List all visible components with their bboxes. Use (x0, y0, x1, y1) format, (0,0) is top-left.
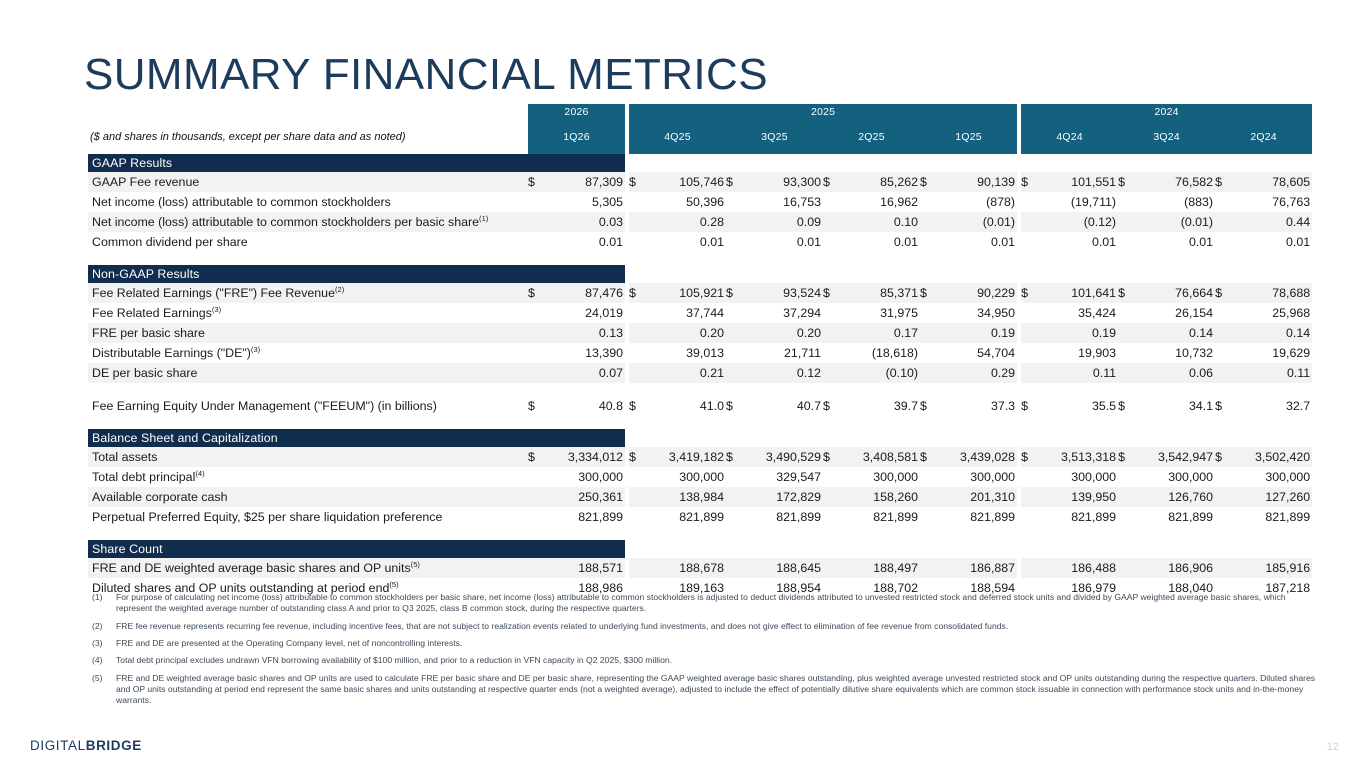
value-cell: 0.07 (544, 363, 625, 383)
currency-symbol: $ (1118, 396, 1134, 416)
column-header-2q24: 2Q24 (1215, 120, 1312, 154)
currency-symbol: $ (920, 447, 936, 467)
currency-symbol (920, 192, 936, 212)
currency-symbol (1215, 232, 1231, 252)
section-header-filler (625, 540, 1312, 558)
value-cell: 37,294 (742, 303, 823, 323)
logo-text-bold: BRIDGE (86, 738, 142, 753)
value-cell: 188,571 (544, 558, 625, 578)
row-label: GAAP Fee revenue (88, 172, 528, 192)
value-cell: 821,899 (936, 507, 1017, 527)
currency-symbol (1021, 192, 1037, 212)
value-cell: 0.03 (544, 212, 625, 232)
currency-symbol: $ (920, 172, 936, 192)
value-cell: 16,962 (839, 192, 920, 212)
value-cell: 0.09 (742, 212, 823, 232)
row-label: Distributable Earnings ("DE")(3) (88, 343, 528, 363)
currency-symbol (1021, 323, 1037, 343)
currency-symbol (528, 363, 544, 383)
value-cell: 3,408,581 (839, 447, 920, 467)
value-cell: (19,711) (1037, 192, 1118, 212)
currency-symbol (629, 558, 645, 578)
currency-symbol (920, 487, 936, 507)
digitalbridge-logo: DIGITALBRIDGE (30, 738, 142, 753)
value-cell: 19,629 (1231, 343, 1312, 363)
currency-symbol: $ (528, 283, 544, 303)
currency-symbol: $ (629, 172, 645, 192)
currency-symbol (823, 212, 839, 232)
currency-symbol: $ (1118, 283, 1134, 303)
value-cell: 3,490,529 (742, 447, 823, 467)
currency-symbol (823, 232, 839, 252)
currency-symbol (1118, 192, 1134, 212)
value-cell: 821,899 (1037, 507, 1118, 527)
currency-symbol (1021, 343, 1037, 363)
currency-symbol (726, 343, 742, 363)
footnote-ref: (3) (251, 345, 260, 354)
currency-symbol (726, 363, 742, 383)
currency-symbol (726, 507, 742, 527)
value-cell: 105,746 (645, 172, 726, 192)
footnote-marker: (5) (92, 673, 116, 707)
value-cell: 41.0 (645, 396, 726, 416)
currency-symbol: $ (528, 396, 544, 416)
column-header-1q26: 1Q26 (528, 120, 625, 154)
value-cell: 26,154 (1134, 303, 1215, 323)
section-header-filler (625, 429, 1312, 447)
value-cell: 50,396 (645, 192, 726, 212)
value-cell: 5,305 (544, 192, 625, 212)
value-cell: (0.01) (936, 212, 1017, 232)
currency-symbol: $ (726, 283, 742, 303)
value-cell: 821,899 (1231, 507, 1312, 527)
header-quarter-row: ($ and shares in thousands, except per s… (88, 120, 1312, 154)
footnote-text: For purpose of calculating net income (l… (116, 592, 1322, 615)
currency-symbol (1118, 212, 1134, 232)
footnote-text: FRE and DE are presented at the Operatin… (116, 638, 1322, 649)
currency-symbol (726, 487, 742, 507)
value-cell: 821,899 (742, 507, 823, 527)
value-cell: 0.29 (936, 363, 1017, 383)
value-cell: 0.21 (645, 363, 726, 383)
currency-symbol (1118, 487, 1134, 507)
value-cell: 24,019 (544, 303, 625, 323)
value-cell: 101,641 (1037, 283, 1118, 303)
footnote-item: (3)FRE and DE are presented at the Opera… (92, 638, 1322, 649)
value-cell: 201,310 (936, 487, 1017, 507)
currency-symbol: $ (726, 447, 742, 467)
value-cell: 300,000 (645, 467, 726, 487)
value-cell: 35.5 (1037, 396, 1118, 416)
value-cell: 0.01 (645, 232, 726, 252)
currency-symbol (920, 303, 936, 323)
section-header-row: Share Count (88, 540, 1312, 558)
value-cell: 0.14 (1231, 323, 1312, 343)
value-cell: 186,906 (1134, 558, 1215, 578)
row-label: Fee Related Earnings ("FRE") Fee Revenue… (88, 283, 528, 303)
table-row: Net income (loss) attributable to common… (88, 212, 1312, 232)
currency-symbol (528, 343, 544, 363)
footnote-item: (4)Total debt principal excludes undrawn… (92, 655, 1322, 666)
financial-metrics-table: 2026 2025 2024 ($ and shares in thousand… (88, 104, 1312, 598)
value-cell: 3,439,028 (936, 447, 1017, 467)
value-cell: 821,899 (645, 507, 726, 527)
section-header-row: Non-GAAP Results (88, 265, 1312, 283)
currency-symbol (528, 467, 544, 487)
value-cell: 0.01 (742, 232, 823, 252)
currency-symbol: $ (1021, 172, 1037, 192)
currency-symbol (629, 232, 645, 252)
currency-symbol (629, 467, 645, 487)
value-cell: 300,000 (936, 467, 1017, 487)
value-cell: 0.28 (645, 212, 726, 232)
row-label: Net income (loss) attributable to common… (88, 192, 528, 212)
value-cell: 188,645 (742, 558, 823, 578)
value-cell: 158,260 (839, 487, 920, 507)
table-row: Net income (loss) attributable to common… (88, 192, 1312, 212)
column-header-4q25: 4Q25 (629, 120, 726, 154)
footnote-marker: (3) (92, 638, 116, 649)
currency-symbol: $ (629, 283, 645, 303)
financial-metrics-table-wrapper: 2026 2025 2024 ($ and shares in thousand… (88, 104, 1306, 598)
value-cell: 85,371 (839, 283, 920, 303)
table-row: Available corporate cash250,361138,98417… (88, 487, 1312, 507)
table-row: FRE per basic share0.130.200.200.170.190… (88, 323, 1312, 343)
footnote-text: FRE fee revenue represents recurring fee… (116, 621, 1322, 632)
currency-symbol (823, 323, 839, 343)
section-header-filler (625, 154, 1312, 172)
currency-symbol (823, 192, 839, 212)
value-cell: 0.01 (1134, 232, 1215, 252)
value-cell: 3,419,182 (645, 447, 726, 467)
value-cell: 821,899 (839, 507, 920, 527)
footnote-ref: (3) (212, 305, 221, 314)
row-label: Fee Related Earnings(3) (88, 303, 528, 323)
table-row: Total debt principal(4)300,000300,000329… (88, 467, 1312, 487)
section-title: Share Count (88, 540, 625, 558)
value-cell: 101,551 (1037, 172, 1118, 192)
currency-symbol (528, 232, 544, 252)
currency-symbol: $ (1118, 172, 1134, 192)
currency-symbol (1215, 303, 1231, 323)
value-cell: 138,984 (645, 487, 726, 507)
row-label: Total assets (88, 447, 528, 467)
currency-symbol (1118, 303, 1134, 323)
table-row: Distributable Earnings ("DE")(3)13,39039… (88, 343, 1312, 363)
footnote-item: (2)FRE fee revenue represents recurring … (92, 621, 1322, 632)
currency-symbol (823, 343, 839, 363)
currency-symbol: $ (1118, 447, 1134, 467)
row-label: Net income (loss) attributable to common… (88, 212, 528, 232)
value-cell: 78,605 (1231, 172, 1312, 192)
row-label: Available corporate cash (88, 487, 528, 507)
value-cell: 172,829 (742, 487, 823, 507)
currency-symbol (528, 212, 544, 232)
currency-symbol (1021, 507, 1037, 527)
value-cell: 34.1 (1134, 396, 1215, 416)
table-row: GAAP Fee revenue$87,309$105,746$93,300$8… (88, 172, 1312, 192)
year-group-2024: 2024 (1021, 104, 1312, 120)
currency-symbol (629, 343, 645, 363)
value-cell: 0.17 (839, 323, 920, 343)
currency-symbol (1021, 212, 1037, 232)
currency-symbol (823, 487, 839, 507)
value-cell: 300,000 (1134, 467, 1215, 487)
table-row: Total assets$3,334,012$3,419,182$3,490,5… (88, 447, 1312, 467)
currency-symbol: $ (823, 283, 839, 303)
currency-symbol (629, 212, 645, 232)
currency-symbol (920, 507, 936, 527)
value-cell: 85,262 (839, 172, 920, 192)
footnote-marker: (4) (92, 655, 116, 666)
row-label: FRE per basic share (88, 323, 528, 343)
value-cell: 821,899 (1134, 507, 1215, 527)
page-title: SUMMARY FINANCIAL METRICS (84, 53, 768, 97)
value-cell: 40.7 (742, 396, 823, 416)
footnote-ref: (1) (479, 214, 488, 223)
currency-symbol: $ (629, 447, 645, 467)
value-cell: 0.12 (742, 363, 823, 383)
value-cell: 127,260 (1231, 487, 1312, 507)
value-cell: 39,013 (645, 343, 726, 363)
value-cell: 19,903 (1037, 343, 1118, 363)
spacer-row (88, 383, 1312, 396)
currency-symbol (1118, 507, 1134, 527)
currency-symbol: $ (1021, 447, 1037, 467)
column-header-4q24: 4Q24 (1021, 120, 1118, 154)
value-cell: 32.7 (1231, 396, 1312, 416)
value-cell: (0.01) (1134, 212, 1215, 232)
currency-symbol (1118, 323, 1134, 343)
currency-symbol: $ (1215, 172, 1231, 192)
value-cell: 40.8 (544, 396, 625, 416)
section-header-row: Balance Sheet and Capitalization (88, 429, 1312, 447)
currency-symbol (629, 507, 645, 527)
value-cell: 821,899 (544, 507, 625, 527)
column-header-3q24: 3Q24 (1118, 120, 1215, 154)
value-cell: 93,300 (742, 172, 823, 192)
spacer-row (88, 416, 1312, 429)
currency-symbol (1118, 343, 1134, 363)
table-row: Common dividend per share0.010.010.010.0… (88, 232, 1312, 252)
year-group-2026: 2026 (528, 104, 625, 120)
currency-symbol (629, 192, 645, 212)
logo-text-light: DIGITAL (30, 738, 86, 753)
value-cell: 31,975 (839, 303, 920, 323)
slide-summary-financial-metrics: SUMMARY FINANCIAL METRICS 2026 (0, 0, 1365, 768)
currency-symbol (920, 232, 936, 252)
currency-symbol (1118, 363, 1134, 383)
value-cell: 186,488 (1037, 558, 1118, 578)
table-subtitle: ($ and shares in thousands, except per s… (88, 120, 528, 154)
currency-symbol (528, 192, 544, 212)
value-cell: 0.10 (839, 212, 920, 232)
value-cell: 34,950 (936, 303, 1017, 323)
value-cell: 78,688 (1231, 283, 1312, 303)
currency-symbol (528, 558, 544, 578)
section-title: Non-GAAP Results (88, 265, 625, 283)
currency-symbol (1215, 363, 1231, 383)
value-cell: 3,542,947 (1134, 447, 1215, 467)
currency-symbol: $ (1021, 283, 1037, 303)
row-label: FRE and DE weighted average basic shares… (88, 558, 528, 578)
currency-symbol (726, 323, 742, 343)
footnote-ref: (4) (195, 469, 204, 478)
value-cell: 3,502,420 (1231, 447, 1312, 467)
currency-symbol: $ (1215, 283, 1231, 303)
currency-symbol (823, 303, 839, 323)
value-cell: 126,760 (1134, 487, 1215, 507)
value-cell: 37,744 (645, 303, 726, 323)
value-cell: 0.01 (839, 232, 920, 252)
value-cell: 0.14 (1134, 323, 1215, 343)
value-cell: 21,711 (742, 343, 823, 363)
value-cell: 0.44 (1231, 212, 1312, 232)
currency-symbol: $ (629, 396, 645, 416)
currency-symbol (726, 467, 742, 487)
value-cell: 10,732 (1134, 343, 1215, 363)
value-cell: (883) (1134, 192, 1215, 212)
table-row: Fee Earning Equity Under Management ("FE… (88, 396, 1312, 416)
value-cell: 25,968 (1231, 303, 1312, 323)
currency-symbol: $ (823, 172, 839, 192)
value-cell: (0.12) (1037, 212, 1118, 232)
currency-symbol (823, 507, 839, 527)
section-title: GAAP Results (88, 154, 625, 172)
spacer-cell (88, 383, 1312, 396)
currency-symbol: $ (920, 283, 936, 303)
table-row: Fee Related Earnings(3)24,01937,74437,29… (88, 303, 1312, 323)
currency-symbol (823, 363, 839, 383)
row-label: Total debt principal(4) (88, 467, 528, 487)
value-cell: 186,887 (936, 558, 1017, 578)
value-cell: 87,476 (544, 283, 625, 303)
currency-symbol (1118, 232, 1134, 252)
value-cell: 188,678 (645, 558, 726, 578)
currency-symbol: $ (1215, 396, 1231, 416)
footnote-marker: (2) (92, 621, 116, 632)
value-cell: 0.01 (936, 232, 1017, 252)
currency-symbol (823, 467, 839, 487)
footnote-ref: (5) (411, 560, 420, 569)
value-cell: 76,763 (1231, 192, 1312, 212)
spacer-cell (88, 416, 1312, 429)
value-cell: 39.7 (839, 396, 920, 416)
value-cell: 188,497 (839, 558, 920, 578)
value-cell: 93,524 (742, 283, 823, 303)
currency-symbol (920, 343, 936, 363)
footnote-marker: (1) (92, 592, 116, 615)
currency-symbol (1118, 558, 1134, 578)
currency-symbol: $ (726, 396, 742, 416)
currency-symbol (1215, 487, 1231, 507)
column-header-2q25: 2Q25 (823, 120, 920, 154)
currency-symbol (726, 303, 742, 323)
currency-symbol (920, 467, 936, 487)
spacer-row (88, 527, 1312, 540)
footnote-item: (1)For purpose of calculating net income… (92, 592, 1322, 615)
currency-symbol (726, 212, 742, 232)
footnote-ref: (2) (335, 285, 344, 294)
value-cell: 0.01 (1231, 232, 1312, 252)
value-cell: 35,424 (1037, 303, 1118, 323)
currency-symbol (629, 487, 645, 507)
currency-symbol (726, 232, 742, 252)
value-cell: 300,000 (544, 467, 625, 487)
section-header-row: GAAP Results (88, 154, 1312, 172)
value-cell: (0.10) (839, 363, 920, 383)
value-cell: 76,582 (1134, 172, 1215, 192)
value-cell: 300,000 (1231, 467, 1312, 487)
currency-symbol (1215, 558, 1231, 578)
footnotes-list: (1)For purpose of calculating net income… (92, 592, 1322, 713)
value-cell: 54,704 (936, 343, 1017, 363)
footnote-item: (5)FRE and DE weighted average basic sha… (92, 673, 1322, 707)
spacer-cell (88, 527, 1312, 540)
currency-symbol (528, 507, 544, 527)
row-label: Fee Earning Equity Under Management ("FE… (88, 396, 528, 416)
currency-symbol (920, 212, 936, 232)
value-cell: 90,229 (936, 283, 1017, 303)
section-header-filler (625, 265, 1312, 283)
value-cell: 329,547 (742, 467, 823, 487)
year-group-2025: 2025 (629, 104, 1017, 120)
column-header-3q25: 3Q25 (726, 120, 823, 154)
table-header: 2026 2025 2024 ($ and shares in thousand… (88, 104, 1312, 154)
currency-symbol (1118, 467, 1134, 487)
currency-symbol: $ (1021, 396, 1037, 416)
value-cell: 139,950 (1037, 487, 1118, 507)
value-cell: 0.11 (1037, 363, 1118, 383)
value-cell: 16,753 (742, 192, 823, 212)
table-row: FRE and DE weighted average basic shares… (88, 558, 1312, 578)
currency-symbol (823, 558, 839, 578)
currency-symbol (1021, 558, 1037, 578)
currency-symbol (1215, 467, 1231, 487)
value-cell: 105,921 (645, 283, 726, 303)
currency-symbol (1021, 303, 1037, 323)
spacer-row (88, 252, 1312, 265)
currency-symbol: $ (823, 447, 839, 467)
value-cell: 3,334,012 (544, 447, 625, 467)
currency-symbol (1215, 507, 1231, 527)
currency-symbol (1215, 212, 1231, 232)
value-cell: 0.20 (645, 323, 726, 343)
footnote-text: FRE and DE weighted average basic shares… (116, 673, 1322, 707)
currency-symbol (528, 487, 544, 507)
value-cell: (18,618) (839, 343, 920, 363)
footnote-ref: (5) (389, 580, 398, 589)
currency-symbol (629, 363, 645, 383)
value-cell: 185,916 (1231, 558, 1312, 578)
header-corner-blank (88, 104, 528, 120)
currency-symbol (1021, 363, 1037, 383)
currency-symbol: $ (920, 396, 936, 416)
table-row: Fee Related Earnings ("FRE") Fee Revenue… (88, 283, 1312, 303)
value-cell: 300,000 (839, 467, 920, 487)
value-cell: 0.01 (544, 232, 625, 252)
table-row: DE per basic share0.070.210.12(0.10)0.29… (88, 363, 1312, 383)
value-cell: 87,309 (544, 172, 625, 192)
value-cell: (878) (936, 192, 1017, 212)
page-number: 12 (1327, 741, 1339, 753)
value-cell: 13,390 (544, 343, 625, 363)
currency-symbol (920, 323, 936, 343)
currency-symbol (726, 192, 742, 212)
currency-symbol: $ (726, 172, 742, 192)
currency-symbol (629, 303, 645, 323)
value-cell: 76,664 (1134, 283, 1215, 303)
